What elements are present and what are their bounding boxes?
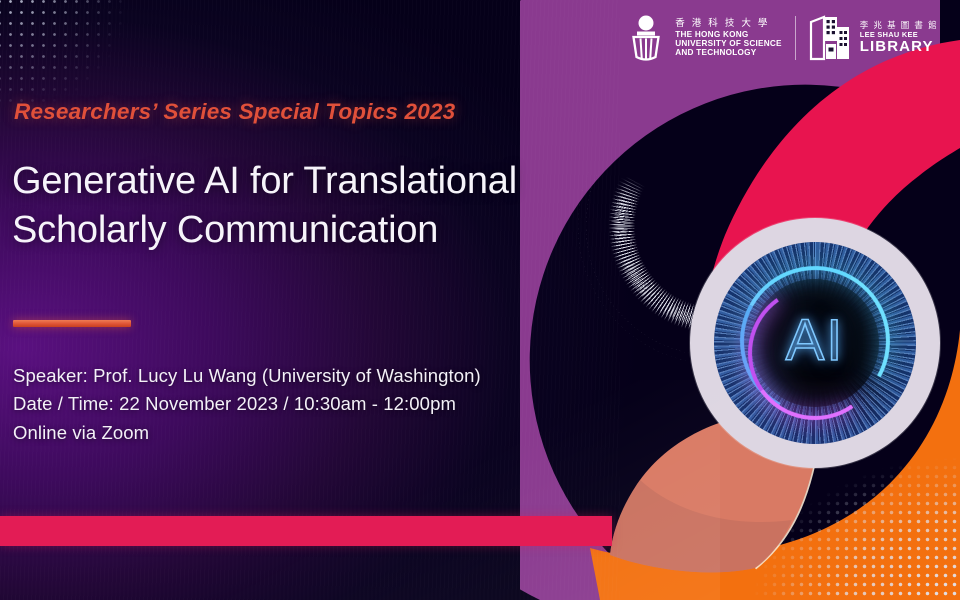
hkust-english-line1: THE HONG KONG — [675, 30, 782, 39]
hkust-english-line3: AND TECHNOLOGY — [675, 48, 782, 57]
speaker-line: Speaker: Prof. Lucy Lu Wang (University … — [13, 362, 481, 390]
library-english-line2: LIBRARY — [860, 39, 938, 55]
page-title: Generative AI for Translational Scholarl… — [12, 157, 517, 254]
event-details: Speaker: Prof. Lucy Lu Wang (University … — [13, 362, 481, 447]
event-promo-banner: AI 香 港 科 技 大 學 THE HONG KONG UNIVERSITY … — [0, 0, 960, 600]
series-eyebrow: Researchers’ Series Special Topics 2023 — [14, 99, 455, 125]
library-building-icon — [809, 14, 851, 62]
library-logo-text: 李 兆 基 圖 書 館 LEE SHAU KEE LIBRARY — [860, 21, 938, 55]
mode-line: Online via Zoom — [13, 419, 481, 447]
ai-sphere-core: AI — [714, 242, 916, 444]
hkust-chinese-name: 香 港 科 技 大 學 — [675, 19, 782, 30]
ai-sphere-graphic: AI — [690, 218, 940, 468]
library-logo: 李 兆 基 圖 書 館 LEE SHAU KEE LIBRARY — [809, 14, 938, 62]
orange-accent-underline — [13, 320, 131, 327]
ai-label: AI — [714, 307, 916, 374]
title-line-1: Generative AI for Translational — [12, 157, 517, 206]
hkust-emblem-icon — [626, 14, 666, 62]
logo-lockup: 香 港 科 技 大 學 THE HONG KONG UNIVERSITY OF … — [626, 14, 938, 62]
title-line-2: Scholarly Communication — [12, 206, 517, 255]
hkust-english-line2: UNIVERSITY OF SCIENCE — [675, 39, 782, 48]
hkust-logo-text: 香 港 科 技 大 學 THE HONG KONG UNIVERSITY OF … — [675, 19, 782, 57]
hkust-logo: 香 港 科 技 大 學 THE HONG KONG UNIVERSITY OF … — [626, 14, 782, 62]
logo-divider — [795, 16, 796, 60]
datetime-line: Date / Time: 22 November 2023 / 10:30am … — [13, 390, 481, 418]
pink-accent-bar — [0, 516, 612, 546]
